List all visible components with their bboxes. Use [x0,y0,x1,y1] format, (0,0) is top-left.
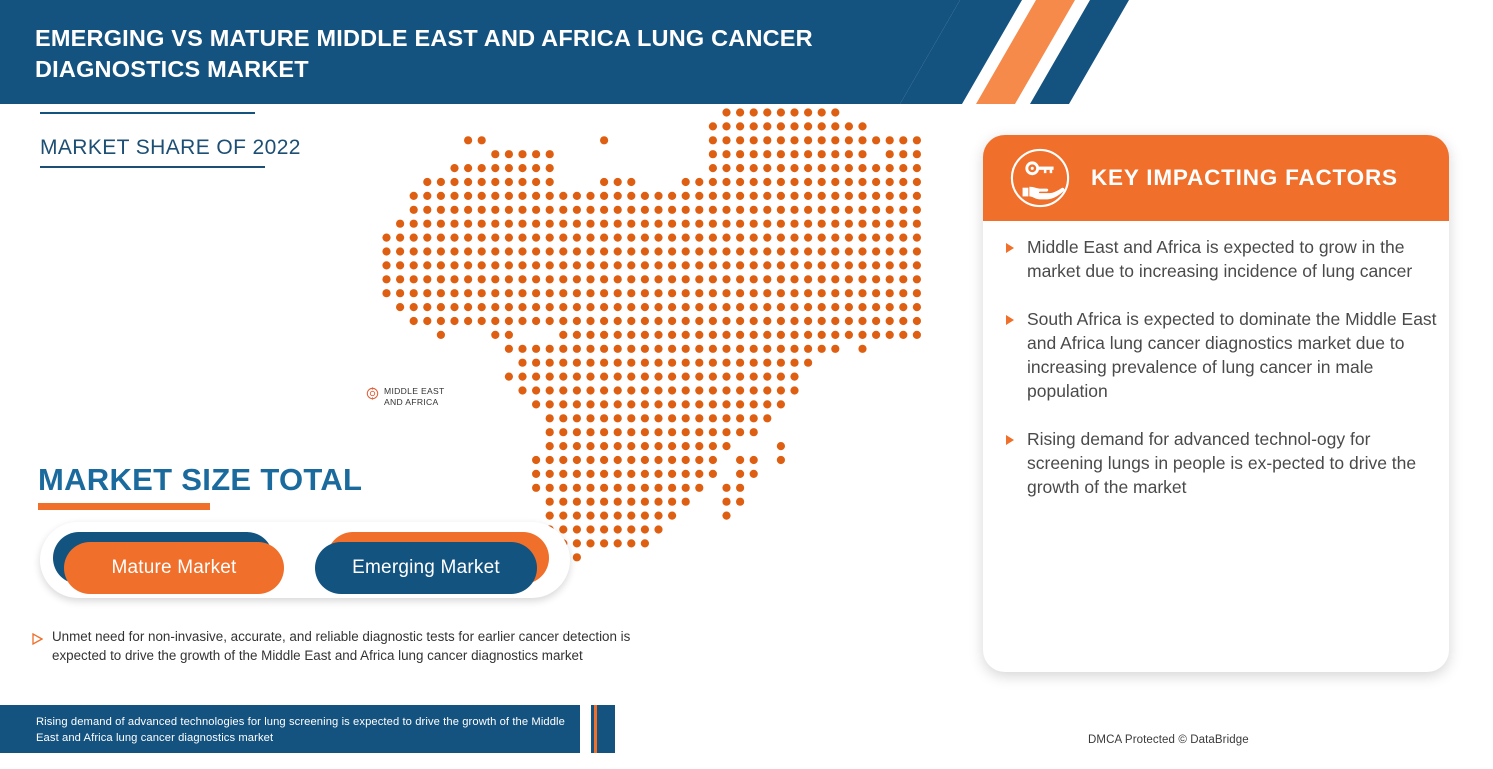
key-impacting-factors-title: KEY IMPACTING FACTORS [1091,135,1398,221]
market-pills-container: Mature Market Emerging Market [40,522,570,598]
dotted-world-map [382,108,922,568]
key-factors-list: Middle East and Africa is expected to gr… [1005,235,1437,523]
key-impacting-factors-card: KEY IMPACTING FACTORS Middle East and Af… [983,135,1449,672]
divider-bottom [40,166,265,168]
bottom-banner-text: Rising demand of advanced technologies f… [36,715,571,746]
list-item-text: Rising demand for advanced technol-ogy f… [1027,427,1437,499]
market-size-underline [38,503,210,510]
legend-line-2: AND AFRICA [384,397,445,408]
location-target-icon [366,387,379,400]
page-title: EMERGING VS MATURE MIDDLE EAST AND AFRIC… [35,23,905,85]
market-share-block: MARKET SHARE OF 2022 [40,112,270,168]
dotted-map-svg [382,108,922,568]
mature-market-pill[interactable]: Mature Market [64,542,284,594]
triangle-bullet-icon [32,633,43,645]
emerging-market-pill[interactable]: Emerging Market [315,542,537,594]
market-size-total-block: MARKET SIZE TOTAL [38,462,362,510]
hand-holding-key-icon [1009,147,1071,209]
market-size-title: MARKET SIZE TOTAL [38,462,362,498]
legend-line-1: MIDDLE EAST [384,386,445,397]
bottom-banner: Rising demand of advanced technologies f… [0,705,580,753]
list-item-text: Middle East and Africa is expected to gr… [1027,235,1437,283]
triangle-bullet-icon [1005,314,1015,326]
list-item: Rising demand for advanced technol-ogy f… [1005,427,1437,499]
page-header: EMERGING VS MATURE MIDDLE EAST AND AFRIC… [0,0,1493,104]
bottom-banner-orange-line [594,705,597,753]
list-item: Middle East and Africa is expected to gr… [1005,235,1437,283]
footer-copyright: DMCA Protected © DataBridge [1088,734,1249,746]
list-item: South Africa is expected to dominate the… [1005,307,1437,403]
map-legend: MIDDLE EAST AND AFRICA [366,386,445,408]
bottom-banner-gap [580,705,591,753]
list-item-text: South Africa is expected to dominate the… [1027,307,1437,403]
map-legend-text: MIDDLE EAST AND AFRICA [384,386,445,408]
triangle-bullet-icon [1005,242,1015,254]
left-bullet-text: Unmet need for non-invasive, accurate, a… [52,628,632,665]
divider-top [40,112,255,114]
market-share-label: MARKET SHARE OF 2022 [40,136,270,160]
triangle-bullet-icon [1005,434,1015,446]
left-bullet-item: Unmet need for non-invasive, accurate, a… [32,628,632,665]
